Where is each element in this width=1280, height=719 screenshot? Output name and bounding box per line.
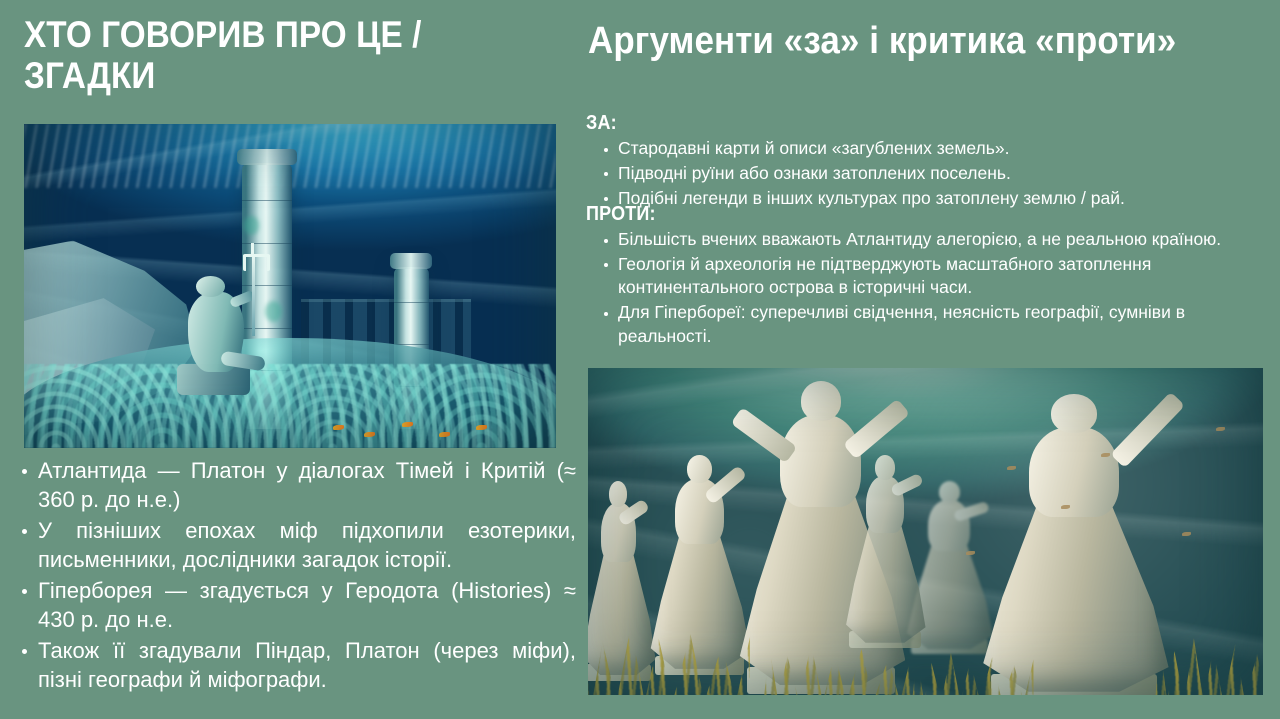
contra-label: ПРОТИ:	[586, 203, 656, 225]
list-item: Також її згадували Піндар, Платон (через…	[16, 636, 576, 695]
list-item: Стародавні карти й описи «загублених зем…	[586, 137, 1280, 160]
pro-list: Стародавні карти й описи «загублених зем…	[586, 137, 1280, 210]
contra-label-row: ПРОТИ:	[586, 203, 1280, 225]
list-item: Гіперборея — згадується у Геродота (Hist…	[16, 576, 576, 635]
contra-list: Більшість вчених вважають Атлантиду алег…	[586, 228, 1280, 348]
pro-label: ЗА:	[586, 112, 617, 134]
underwater-statues-image	[588, 368, 1263, 695]
pro-arguments-block: ЗА: Стародавні карти й описи «загублених…	[586, 112, 1280, 211]
slide-root: ХТО ГОВОРИВ ПРО ЦЕ / ЗГАДКИ	[0, 0, 1280, 719]
right-column-title: Аргументи «за» і критика «проти»	[588, 12, 1223, 71]
list-item: У пізніших епохах міф підхопили езотерик…	[16, 516, 576, 575]
list-item: Атлантида — Платон у діалогах Тімей і Кр…	[16, 456, 576, 515]
list-item: Більшість вчених вважають Атлантиду алег…	[586, 228, 1280, 251]
list-item: Геологія й археологія не підтверджують м…	[586, 253, 1280, 300]
contra-arguments-block: ПРОТИ: Більшість вчених вважають Атланти…	[586, 203, 1280, 350]
underwater-ruins-poseidon-image	[24, 124, 556, 448]
left-column-title: ХТО ГОВОРИВ ПРО ЦЕ / ЗГАДКИ	[24, 14, 510, 97]
left-column: ХТО ГОВОРИВ ПРО ЦЕ / ЗГАДКИ	[0, 0, 578, 719]
image-vignette	[24, 124, 556, 448]
list-item: Для Гіпербореї: суперечливі свідчення, н…	[586, 301, 1280, 348]
left-bullet-list: Атлантида — Платон у діалогах Тімей і Кр…	[16, 456, 576, 696]
pro-label-row: ЗА:	[586, 112, 1280, 134]
list-item: Підводні руїни або ознаки затоплених пос…	[586, 162, 1280, 185]
image-vignette	[588, 368, 1263, 695]
